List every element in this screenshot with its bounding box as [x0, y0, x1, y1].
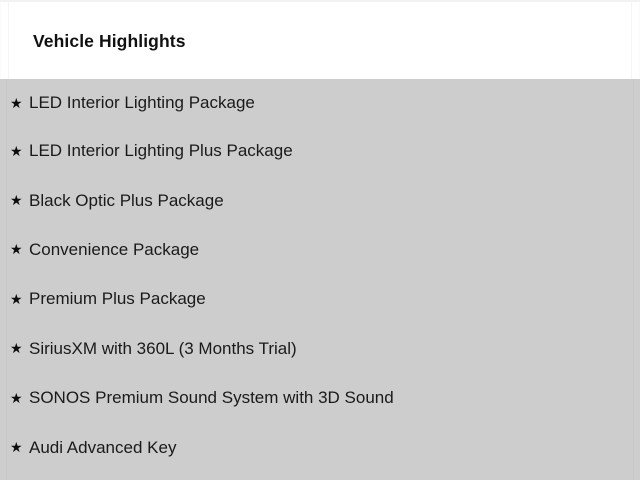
star-icon: ★: [10, 242, 29, 256]
star-icon: ★: [10, 193, 29, 207]
list-item[interactable]: ★ SONOS Premium Sound System with 3D Sou…: [0, 373, 640, 422]
star-icon: ★: [10, 440, 29, 454]
list-item[interactable]: ★ Black Optic Plus Package: [0, 175, 640, 224]
page-title: Vehicle Highlights: [33, 30, 186, 52]
list-item[interactable]: ★ LED Interior Lighting Package: [0, 79, 640, 126]
highlights-body: ★ LED Interior Lighting Package ★ LED In…: [0, 79, 640, 480]
list-item[interactable]: ★ Premium Plus Package: [0, 274, 640, 323]
list-item-label: SONOS Premium Sound System with 3D Sound: [29, 387, 394, 408]
vehicle-highlights-screen: Vehicle Highlights ★ LED Interior Lighti…: [0, 0, 640, 480]
list-item-label: Black Optic Plus Package: [29, 190, 224, 211]
list-item-label: SiriusXM with 360L (3 Months Trial): [29, 338, 297, 359]
list-item[interactable]: ★ Audi Advanced Key: [0, 422, 640, 471]
list-item-label: Premium Plus Package: [29, 288, 206, 309]
list-item-label: Convenience Package: [29, 239, 199, 260]
panel-header: Vehicle Highlights: [0, 2, 640, 79]
vehicle-highlights-list: ★ LED Interior Lighting Package ★ LED In…: [0, 79, 640, 472]
list-item-label: LED Interior Lighting Package: [29, 92, 255, 113]
list-item[interactable]: ★ Convenience Package: [0, 225, 640, 274]
star-icon: ★: [10, 292, 29, 306]
star-icon: ★: [10, 144, 29, 158]
list-item-label: LED Interior Lighting Plus Package: [29, 140, 293, 161]
list-item-label: Audi Advanced Key: [29, 437, 176, 458]
list-item[interactable]: ★ SiriusXM with 360L (3 Months Trial): [0, 324, 640, 373]
list-item[interactable]: ★ LED Interior Lighting Plus Package: [0, 126, 640, 175]
star-icon: ★: [10, 391, 29, 405]
star-icon: ★: [10, 341, 29, 355]
star-icon: ★: [10, 96, 29, 110]
